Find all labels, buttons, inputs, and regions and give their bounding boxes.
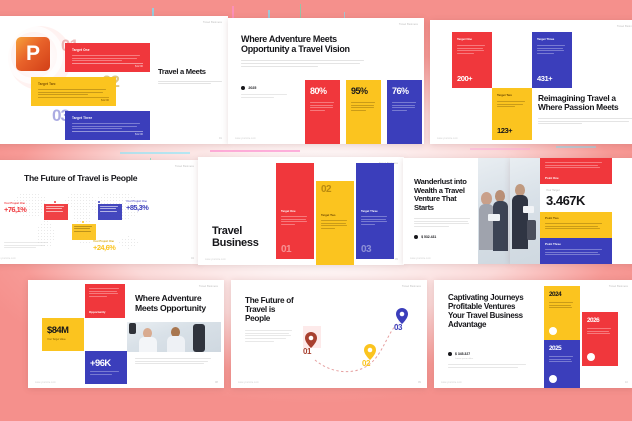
column-label: Target Three (361, 209, 389, 213)
stat-caption (310, 102, 335, 111)
route-path (231, 280, 427, 388)
watermark: Travel Business (199, 285, 218, 288)
stat-card-yellow[interactable]: $84M Your Target Value (42, 318, 84, 351)
stat-caption (392, 102, 417, 111)
point-card-three[interactable]: Point Three (540, 238, 612, 264)
point-caption (545, 223, 607, 229)
map-dot-red-icon (53, 200, 57, 204)
year-caption (549, 302, 575, 308)
slide-body (448, 364, 528, 368)
marker-value: +24,6% (93, 243, 115, 252)
slide-thumbnail-7[interactable]: Point One Your Target 3.467K Point Two P… (510, 158, 632, 264)
pin-number: 01 (303, 347, 311, 356)
team-photo (127, 322, 221, 352)
year-caption (549, 356, 575, 362)
column-card-three[interactable]: 03 Target Three (356, 163, 394, 259)
stat-label: Target Three (537, 37, 567, 41)
powerpoint-logo-icon (16, 37, 50, 71)
page-number: 09 (418, 380, 421, 384)
glitch-artifact (120, 152, 190, 154)
card-amount: $12.00 (135, 133, 143, 136)
marker-value: +85,3% (126, 203, 148, 212)
map-callout-yellow (72, 224, 96, 240)
footer-url: www.yoursite.com (437, 137, 458, 140)
column-label: Target Two (321, 213, 349, 217)
stat-value: 80% (310, 86, 335, 96)
stat-value: 95% (351, 86, 376, 96)
footer-url: www.yoursite.com (235, 137, 256, 140)
column-number: 03 (361, 244, 371, 255)
map-callout-red (44, 204, 68, 220)
point-label: Point Three (545, 242, 607, 246)
footer-url: www.yoursite.com (35, 381, 56, 384)
year-bullet-group: 2025 (241, 86, 291, 100)
preview-canvas: Travel Business 01 02 03 Target One $12.… (0, 0, 632, 421)
page-number: 01 (219, 136, 222, 140)
slide-body (414, 218, 472, 227)
kpi-value: $ 532.431 (421, 235, 436, 239)
map-marker-blue[interactable]: Your Project One +85,3% (126, 200, 148, 212)
watermark: Travel Business (203, 21, 222, 24)
slide-title: Where Adventure Meets Opportunity a Trav… (241, 34, 365, 54)
opportunity-card[interactable]: Opportunity (85, 284, 125, 318)
slide-thumbnail-10[interactable]: Travel Business Captivating Journeys Pro… (434, 280, 632, 388)
stat-card-blue[interactable]: Target Three 431+ (532, 32, 572, 88)
slide-thumbnail-3[interactable]: Travel Business Target One 200+ Target T… (430, 20, 632, 144)
kpi-value: $ 345.327 (455, 352, 470, 356)
marker-value: +76,1% (4, 205, 26, 214)
card-divider (38, 97, 109, 98)
year-card-2025[interactable]: 2025 (544, 340, 580, 388)
map-callout-blue (98, 204, 122, 220)
stat-card-red[interactable]: 80% (305, 80, 340, 144)
card-body (38, 89, 109, 95)
year-card-2026[interactable]: 2026 (582, 312, 618, 366)
target-card-one[interactable]: Target One $12.00 (65, 43, 150, 72)
column-label: Target One (281, 209, 309, 213)
target-value: 3.467K (546, 193, 606, 208)
column-caption (321, 220, 349, 229)
target-label: Your Target (546, 189, 606, 192)
page-number: 10 (625, 380, 628, 384)
slide-thumbnail-8[interactable]: Travel Business Opportunity $84M Your Ta… (28, 280, 224, 388)
stat-label: Your Target Value (47, 338, 79, 341)
stat-card-yellow[interactable]: Target Two 123+ (492, 88, 532, 140)
column-caption (281, 216, 309, 225)
slide-body (135, 358, 213, 366)
target-panel: Your Target 3.467K (540, 184, 612, 212)
footer-url: www.yoursite.com (441, 381, 462, 384)
stat-value: $84M (47, 324, 79, 335)
slide-title: Wanderlust into Wealth a Travel Venture … (414, 178, 472, 212)
point-card-two[interactable]: Point Two (540, 212, 612, 238)
glitch-artifact (210, 150, 300, 152)
point-label: Point Two (545, 216, 607, 220)
map-marker-red[interactable]: Your Project One +76,1% (4, 202, 26, 214)
slide-thumbnail-6[interactable]: Wanderlust into Wealth a Travel Venture … (403, 158, 510, 264)
pin-number: 03 (394, 323, 402, 332)
target-card-two[interactable]: Target Two $12.00 (31, 77, 116, 106)
year-label: 2025 (549, 345, 575, 352)
footer-url: www.yoursite.com (205, 258, 226, 261)
footer-url: www.yoursite.com (0, 257, 16, 260)
point-caption (545, 162, 607, 168)
watermark: Travel Business (609, 285, 628, 288)
bullet-dot-icon (448, 352, 452, 356)
year-badge-icon (549, 375, 557, 383)
card-divider (72, 131, 143, 132)
watermark: Travel Business (399, 23, 418, 26)
map-pin-02[interactable]: 02 (364, 344, 376, 360)
slide-title: Where Adventure Meets Opportunity (135, 294, 217, 313)
slide-thumbnail-2[interactable]: Travel Business Where Adventure Meets Op… (228, 18, 424, 144)
page-number: 08 (215, 380, 218, 384)
point-card-one[interactable]: Point One (540, 158, 612, 184)
stat-card-yellow[interactable]: 95% (346, 80, 381, 144)
stat-value: +96K (90, 357, 122, 368)
slide-body (241, 60, 365, 66)
business-photo (510, 158, 540, 264)
column-caption (361, 216, 389, 225)
stat-label: Target Two (497, 93, 527, 97)
glitch-artifact (556, 146, 596, 148)
slide-thumbnail-9[interactable]: Travel Business The Future of Travel is … (231, 280, 427, 388)
column-card-one[interactable]: 01 Target One (276, 163, 314, 259)
card-amount: $12.00 (135, 65, 143, 68)
stat-card-blue[interactable]: 76% (387, 80, 422, 144)
stat-card-red[interactable]: Target One 200+ (452, 32, 492, 88)
stat-value: 431+ (537, 74, 552, 83)
stat-card-blue[interactable]: +96K (85, 351, 127, 384)
glitch-artifact (470, 148, 530, 150)
map-marker-yellow[interactable]: Your Project One +24,6% (93, 240, 115, 252)
bullet-year: 2025 (248, 86, 256, 90)
map-dot-blue-icon (97, 200, 101, 204)
pin-number: 02 (362, 359, 370, 368)
stat-caption (497, 101, 527, 107)
year-badge-icon (587, 353, 595, 361)
bullet-dot-icon (414, 235, 418, 239)
footer-url: www.yoursite.com (238, 381, 259, 384)
stat-caption (351, 102, 376, 111)
stat-value: 76% (392, 86, 417, 96)
column-number: 01 (281, 244, 291, 255)
stat-value: 123+ (497, 126, 512, 135)
card-amount: $12.00 (101, 99, 109, 102)
stat-value: 200+ (457, 74, 472, 83)
bullet-body (241, 94, 291, 98)
year-card-2024[interactable]: 2024 (544, 286, 580, 340)
card-caption (89, 288, 121, 297)
year-label: 2024 (549, 291, 575, 298)
target-card-three[interactable]: Target Three $12.00 (65, 111, 150, 140)
map-dot-yellow-icon (81, 220, 85, 224)
slide-title: Travel a Meets (158, 68, 224, 77)
column-card-two[interactable]: 02 Target Two (316, 181, 354, 265)
slide-title: Travel Business (212, 225, 278, 249)
kpi-sub: Lorem ipsum dolor (455, 358, 528, 360)
map-pin-03[interactable]: 03 (396, 308, 408, 324)
page-number: 04 (191, 256, 194, 260)
stat-caption (537, 45, 567, 54)
slide-body (538, 118, 632, 124)
bullet-dot-icon (241, 86, 245, 90)
card-title: Target Three (72, 116, 143, 120)
column-number: 02 (321, 184, 331, 195)
card-title: Target One (72, 48, 143, 52)
page-number: 05 (395, 257, 398, 261)
card-body (72, 123, 143, 129)
point-label: Point One (545, 176, 559, 180)
card-divider (72, 63, 143, 64)
card-body (72, 55, 143, 61)
slide-thumbnail-4[interactable]: Travel Business The Future of Travel is … (0, 160, 200, 264)
footer-url: www.yoursite.com (410, 257, 431, 260)
year-caption (587, 328, 613, 334)
slide-title: Captivating Journeys Profitable Ventures… (448, 294, 532, 330)
point-caption (545, 249, 607, 255)
card-label: Opportunity (89, 310, 106, 314)
stat-caption (457, 45, 487, 54)
map-pin-01[interactable]: 01 (305, 332, 317, 348)
slide-title: Reimagining Travel a Where Passion Meets (538, 94, 632, 113)
stat-caption (90, 371, 122, 375)
slide-body (158, 81, 224, 85)
slide-thumbnail-1[interactable]: Travel Business 01 02 03 Target One $12.… (0, 16, 228, 144)
slide-thumbnail-5[interactable]: Travel Business Travel Business 01 Targe… (198, 157, 404, 265)
card-title: Target Two (38, 82, 109, 86)
slide-body (4, 242, 50, 250)
business-photo (478, 158, 510, 264)
year-label: 2026 (587, 317, 613, 324)
year-badge-icon (549, 327, 557, 335)
watermark: Travel Business (617, 25, 632, 28)
stat-label: Target One (457, 37, 487, 41)
